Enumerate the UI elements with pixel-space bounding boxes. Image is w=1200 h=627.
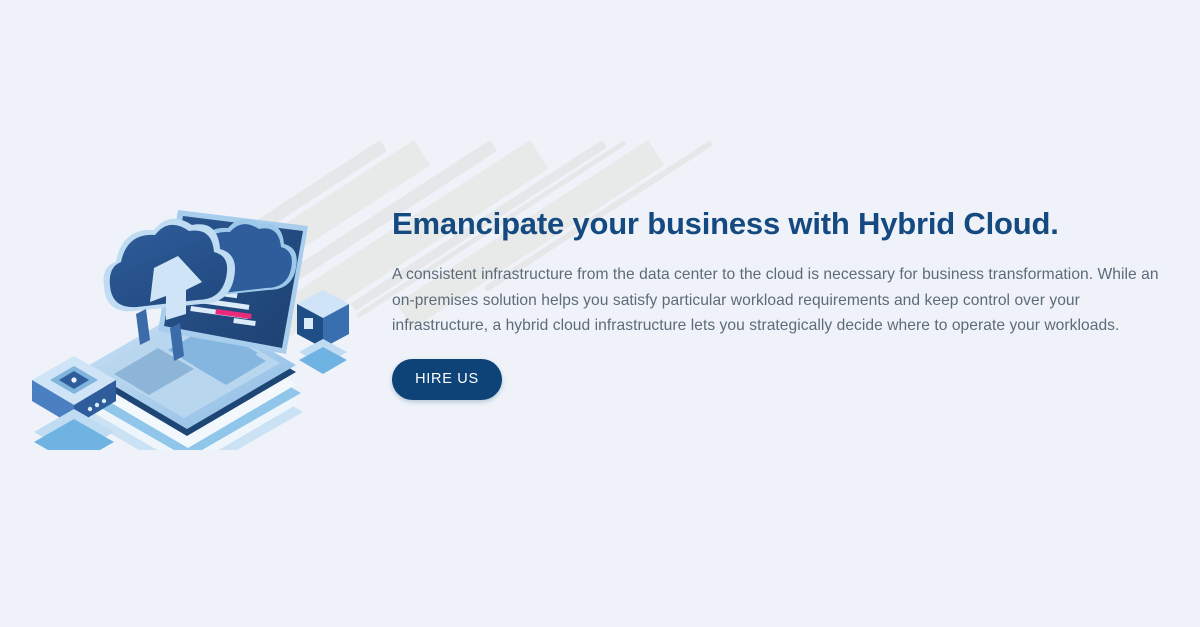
cta-container: HIRE US bbox=[392, 359, 1182, 400]
hero-copy: Emancipate your business with Hybrid Clo… bbox=[392, 204, 1182, 400]
page-title: Emancipate your business with Hybrid Clo… bbox=[392, 204, 1182, 244]
hybrid-cloud-illustration bbox=[18, 190, 358, 450]
hero-section: Emancipate your business with Hybrid Clo… bbox=[0, 0, 1200, 627]
hire-us-button[interactable]: HIRE US bbox=[392, 359, 502, 400]
hero-description: A consistent infrastructure from the dat… bbox=[392, 262, 1174, 339]
cube bbox=[297, 290, 349, 374]
cube-platform-layers bbox=[299, 339, 347, 374]
